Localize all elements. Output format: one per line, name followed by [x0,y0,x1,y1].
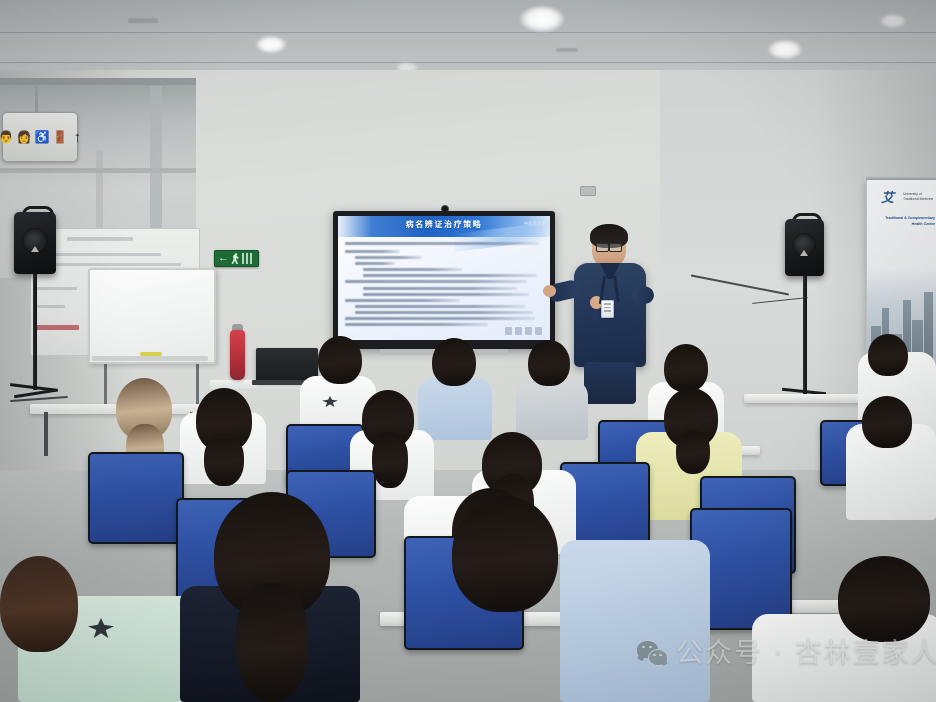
corridor-pillar [150,86,162,236]
accessible-icon: ♿ [35,131,50,143]
presentation-slide: 病名辨证治疗策略 中医药大学 [338,216,550,340]
sign-post [35,86,38,114]
restroom-men-icon: 👨 [0,131,14,143]
attendee-head [318,336,362,384]
whiteboard-leg [104,358,107,406]
id-badge [601,300,614,318]
attendee-head [838,556,930,642]
attendee-torso [418,378,492,440]
attendee-ponytail [204,434,244,486]
whiteboard-leg [196,358,199,406]
speaker-tweeter-icon [800,250,808,256]
presenter-left-hand [543,285,556,297]
audience-desk [744,394,866,403]
slide-brand: 中医药大学 [524,221,546,227]
up-arrow-icon: ↑ [74,130,82,145]
downlight-icon [520,6,564,32]
speaker-stand-pole [33,274,37,390]
watermark-text: 公众号 · 杏林壹家人 [676,640,936,667]
downlight-icon [256,36,286,53]
eyeglasses-icon [609,243,622,252]
ceiling-vent-icon [556,48,578,52]
ceiling-vent-icon [128,18,158,23]
marker-pen-icon [140,352,162,356]
exit-text-icon [242,253,254,264]
running-person-icon [231,253,240,264]
attendee-torso [560,540,710,702]
chair[interactable] [88,452,184,544]
restroom-women-icon: 👩 [17,131,32,143]
left-arrow-icon: ← [218,253,229,264]
slide-body-text [345,242,543,324]
attendee-ponytail [676,430,710,474]
attendee-head [0,556,78,652]
downlight-icon [768,40,802,59]
attendee-head [432,338,476,386]
wechat-logo-icon [637,641,667,667]
speaker-tweeter-icon [31,246,39,252]
slide-footer-marks [505,327,542,335]
attendee-torso [516,380,588,440]
banner-english-text: University of Traditional Medicine [903,192,935,202]
attendee-head [528,340,570,386]
wayfinding-sign: 👨 👩 ♿ 🚪 ↑ [2,112,78,162]
table-leg [44,412,48,456]
attendee-head [664,344,708,392]
slide-title: 病名辨证治疗策略 [338,219,550,230]
banner-logo: 艾 [881,190,901,206]
whiteboard [88,268,216,364]
attendee-ponytail [372,432,408,488]
corridor-beam [0,78,196,85]
banner-subtitle: Traditional & Complementary Health Centr… [885,216,935,227]
attendee-ponytail [236,582,308,702]
wall-display[interactable]: 病名辨证治疗策略 中医药大学 [333,211,555,349]
downlight-icon [880,14,906,28]
ceiling-seam [0,62,936,63]
photo-canvas: 👨 👩 ♿ 🚪 ↑ ← 病名辨证治疗策略 中医药大学 [0,0,936,702]
attendee-head [868,334,908,376]
ceiling-seam [0,32,936,33]
attendee-head [452,496,558,612]
baby-care-icon: 🚪 [53,131,68,143]
wall-sensor-icon [580,186,596,196]
speaker-stand-pole [803,276,807,394]
whiteboard-tray [92,356,208,361]
attendee-head [862,396,912,448]
eyeglasses-icon [596,243,609,252]
watermark: 公众号 · 杏林壹家人 [637,640,936,667]
water-bottle [230,330,245,380]
emergency-exit-sign: ← [214,250,259,267]
presenter-legs [584,362,636,404]
